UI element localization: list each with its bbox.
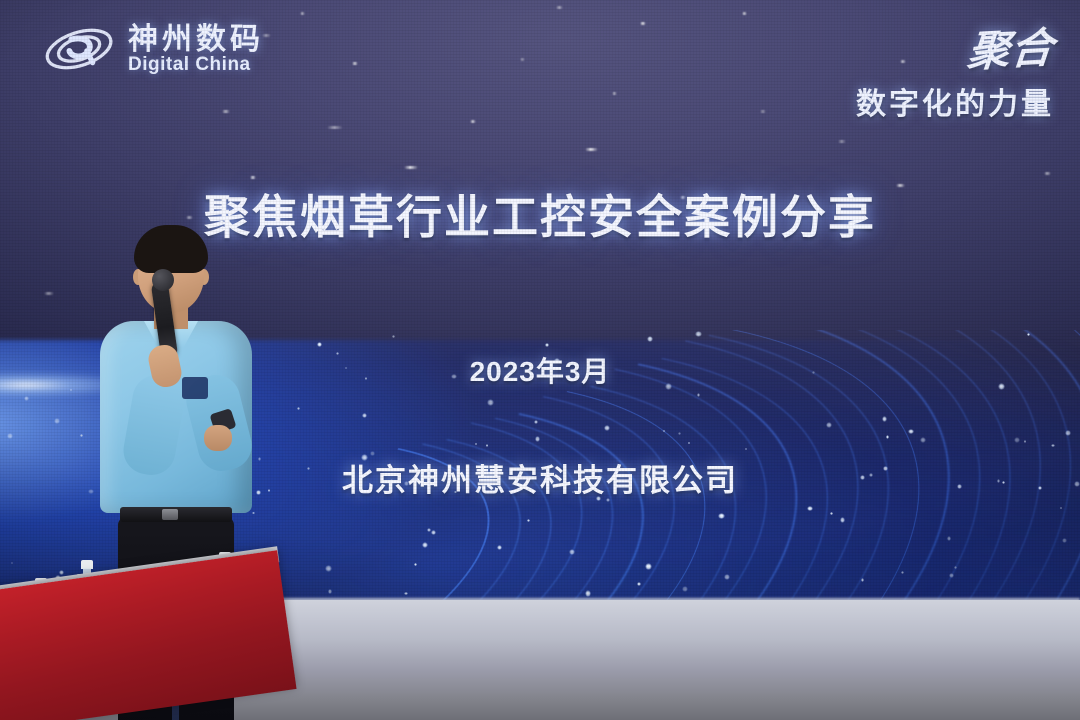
background-light-streak <box>640 22 646 25</box>
event-logo-brush-text: 聚合 <box>965 14 1057 79</box>
background-light-streak <box>222 110 230 113</box>
digital-china-wordmark: 神州数码 Digital China <box>128 25 264 74</box>
background-light-streak <box>352 62 358 65</box>
brand-name-en: Digital China <box>128 54 251 75</box>
speaker-shirt-logo <box>182 377 208 399</box>
background-light-streak <box>1044 172 1051 175</box>
background-light-streak <box>742 12 747 15</box>
speaker-right-hand <box>204 425 232 451</box>
background-light-streak <box>44 292 54 295</box>
background-light-streak <box>760 110 766 113</box>
brand-name-cn: 神州数码 <box>128 23 264 56</box>
digital-china-swirl-icon <box>42 18 120 80</box>
background-light-streak <box>404 166 418 169</box>
event-logo-subtitle: 数字化的力量 <box>856 79 1054 123</box>
background-light-streak <box>612 92 617 95</box>
background-light-streak <box>300 12 305 15</box>
background-light-streak <box>327 126 343 129</box>
background-light-streak <box>556 6 563 9</box>
background-light-streak <box>250 176 256 179</box>
background-light-streak <box>470 120 476 123</box>
speaker-hair <box>134 225 208 273</box>
speaker-belt-buckle <box>162 509 178 520</box>
background-light-streak <box>585 148 598 151</box>
background-light-streak <box>838 140 846 143</box>
event-logo: 聚合 数字化的力量 <box>856 16 1054 123</box>
background-light-streak <box>520 58 525 61</box>
digital-china-logo: 神州数码 Digital China <box>42 18 264 80</box>
conference-photo: 聚焦烟草行业工控安全案例分享 2023年3月 北京神州慧安科技有限公司 神州数码… <box>0 0 1080 720</box>
